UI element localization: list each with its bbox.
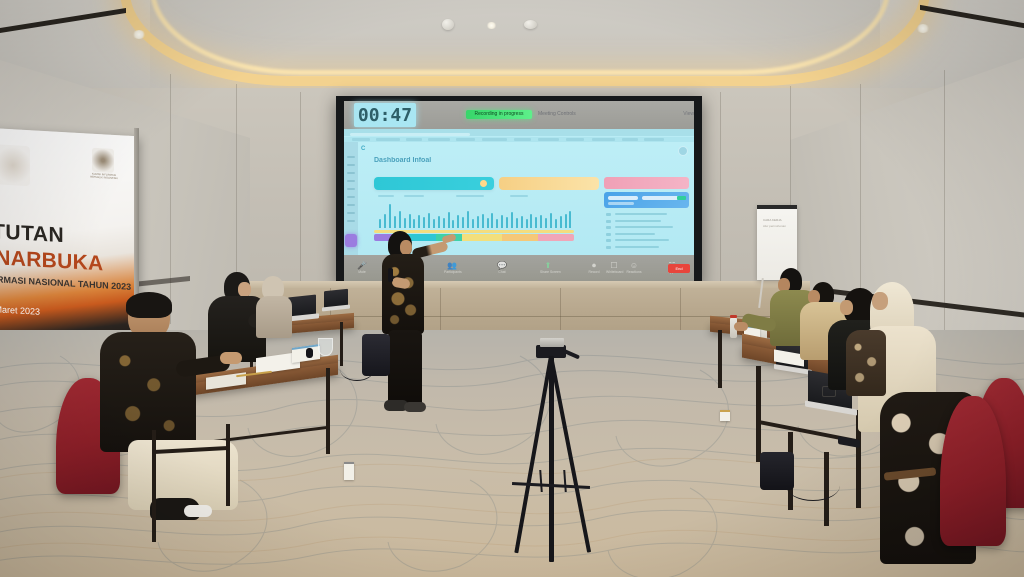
wall-panel-seam [944, 70, 945, 340]
bar-14 [443, 218, 445, 228]
bar-33 [535, 217, 537, 228]
banner-line-4: 28 Maret 2023 [0, 304, 40, 317]
table-microphone [306, 348, 313, 358]
sidebar-item-statistik[interactable] [347, 204, 355, 206]
legend-entry [378, 195, 394, 197]
bar-chart [378, 202, 573, 228]
floor-marker-card [720, 410, 730, 421]
presenter-batik-shirt [382, 254, 424, 334]
list-item[interactable] [606, 232, 690, 237]
chair-right-near [940, 396, 1006, 546]
flipchart-line-2: Alur permohonan [763, 224, 791, 228]
speaker-icon [524, 20, 537, 29]
total-card[interactable] [374, 177, 494, 190]
bar-38 [560, 216, 562, 228]
list-item-icon [606, 233, 611, 236]
bar-13 [438, 216, 440, 228]
bar-2 [384, 214, 386, 228]
legend-entry [456, 195, 484, 197]
bar-15 [448, 212, 450, 228]
bar-11 [428, 213, 430, 228]
sidebar-item-profil[interactable] [347, 164, 355, 166]
chair-leg [226, 424, 230, 506]
view-button[interactable]: View [672, 110, 694, 119]
sidebar-item-beranda[interactable] [347, 156, 355, 158]
list-item[interactable] [606, 219, 690, 224]
stacked-segment-Kuning [462, 234, 502, 241]
sidebar-item-permohonan[interactable] [347, 180, 355, 182]
chair-leg [152, 430, 156, 542]
participant-hand [734, 322, 748, 331]
dashboard-sidebar[interactable] [344, 142, 358, 255]
bookmark-item[interactable] [406, 138, 422, 141]
video-camera [540, 338, 564, 347]
bar-37 [555, 219, 557, 228]
downlight-icon [132, 30, 146, 39]
bookmark-item[interactable] [514, 138, 531, 141]
bar-39 [565, 214, 567, 228]
recording-indicator[interactable]: Recording in progress [466, 110, 532, 119]
app-logo[interactable]: C [361, 146, 383, 151]
handheld-microphone [388, 268, 393, 282]
bar-4 [394, 216, 396, 228]
floor-marker-card [344, 462, 354, 480]
banner-line-3: NFORMASI NASIONAL TAHUN 2023 [0, 273, 131, 292]
bar-7 [409, 214, 411, 228]
bar-32 [530, 214, 532, 228]
bar-28 [511, 212, 513, 228]
event-banner: KOMISI INFORMASI REPUBLIK INDONESIA ATUT… [0, 128, 138, 346]
presenter-face [400, 240, 412, 255]
list-item[interactable] [606, 245, 690, 250]
whiteboard-icon[interactable]: ☐Whiteboard [606, 262, 622, 275]
presenter-trousers [388, 330, 422, 408]
bar-25 [496, 219, 498, 228]
bar-24 [491, 213, 493, 228]
pending-card[interactable] [499, 177, 599, 190]
bookmark-item[interactable] [566, 138, 584, 141]
bookmark-item[interactable] [428, 138, 450, 141]
participant-shoe-sole [184, 505, 212, 517]
list-item-icon [606, 220, 611, 223]
credenza-top [236, 281, 810, 288]
microphone-icon[interactable]: 🎤Mute [354, 262, 370, 275]
flipchart-line-1: CARA KERJA [763, 218, 791, 222]
table-leg [718, 330, 722, 388]
wall-panel-seam [170, 74, 171, 324]
sidebar-item-layanan[interactable] [347, 172, 355, 174]
banner-line-2: TINARBUKA [0, 245, 104, 276]
garuda-emblem-icon: KOMISI INFORMASI REPUBLIK INDONESIA [92, 148, 114, 173]
participant-face [840, 300, 853, 315]
list-item-label [615, 246, 659, 248]
share-screen-icon[interactable]: ⬆Share Screen [540, 262, 556, 275]
list-item-icon [606, 246, 611, 249]
countdown-timer: 00:47 [354, 103, 416, 127]
secondary-filter[interactable] [608, 202, 634, 205]
bar-18 [462, 217, 464, 228]
list-item[interactable] [606, 225, 690, 230]
participant-patterned-sleeve [846, 330, 886, 396]
tripod-leg-center [549, 356, 554, 562]
request-list[interactable] [606, 212, 690, 252]
bar-10 [423, 217, 425, 228]
browser-toolbar [344, 129, 694, 136]
drinking-glass [318, 338, 333, 356]
tripod-spreader [539, 470, 567, 492]
participant-body [256, 296, 292, 338]
list-item-label [615, 233, 655, 235]
bookmark-item[interactable] [622, 138, 638, 141]
conference-room-photo: KOMISI INFORMASI REPUBLIK INDONESIA ATUT… [0, 0, 1024, 577]
bar-29 [516, 218, 518, 228]
sidebar-item-pengaturan[interactable] [347, 220, 355, 222]
bar-31 [526, 219, 528, 228]
card-badge-icon [480, 180, 487, 187]
search-button[interactable] [677, 196, 686, 200]
wall-panel-seam [236, 84, 237, 284]
bar-30 [521, 216, 523, 228]
wall-panel-seam [860, 84, 861, 314]
search-input[interactable] [608, 196, 638, 200]
bar-27 [506, 217, 508, 228]
participant-face [872, 292, 888, 310]
legend-entry [510, 195, 528, 197]
participant-hand [220, 352, 242, 364]
bar-3 [389, 204, 391, 228]
list-item-label [615, 226, 673, 228]
bar-1 [379, 219, 381, 228]
list-item-icon [606, 239, 611, 242]
user-avatar-icon[interactable] [678, 146, 688, 156]
stacked-segment-Oranye [502, 234, 538, 241]
bar-20 [472, 219, 474, 228]
list-item[interactable] [606, 212, 690, 217]
flipchart-clip [757, 205, 797, 209]
bookmark-item[interactable] [352, 138, 370, 141]
bookmark-item[interactable] [376, 138, 400, 141]
bar-9 [418, 215, 420, 228]
downlight-icon [916, 24, 930, 33]
floor-cable [786, 470, 840, 501]
bar-6 [404, 218, 406, 228]
participant-face [238, 282, 251, 297]
meeting-controls-label[interactable]: Meeting Controls [538, 110, 582, 119]
list-item-label [615, 239, 669, 241]
table-leg [326, 368, 330, 454]
bar-19 [467, 211, 469, 228]
floor-cable [340, 358, 374, 381]
banner-watermark-icon [0, 144, 30, 186]
chat-icon[interactable]: 💬Chat [494, 262, 510, 275]
legend-entry [404, 195, 424, 197]
banner-line-1: ATUTAN [0, 219, 64, 248]
bookmark-item[interactable] [456, 138, 475, 141]
participant-batik-shirt [100, 332, 196, 452]
bar-8 [413, 219, 415, 228]
reactions-icon[interactable]: ☺Reactions [626, 262, 642, 275]
list-item-icon [606, 213, 611, 216]
alert-card[interactable] [604, 177, 689, 189]
bar-22 [482, 214, 484, 228]
table-leg [340, 322, 343, 366]
address-bar[interactable] [350, 133, 470, 136]
participants-icon[interactable]: 👥Participants [444, 262, 460, 275]
list-item-label [615, 220, 661, 222]
smoke-detector-icon [442, 19, 454, 30]
sidebar-item-arsip[interactable] [347, 212, 355, 214]
list-item-label [615, 213, 667, 215]
bookmark-item[interactable] [538, 138, 559, 141]
bar-26 [501, 215, 503, 228]
bottle-cap [730, 315, 737, 318]
chart-legend [378, 195, 578, 199]
list-item[interactable] [606, 238, 690, 243]
bar-34 [540, 215, 542, 228]
participant-hair [126, 292, 172, 318]
downlight-icon [486, 22, 497, 29]
table-leg [756, 366, 761, 462]
bar-35 [545, 218, 547, 228]
bar-5 [399, 211, 401, 228]
bar-23 [487, 218, 489, 228]
stacked-segment-Merah Muda [538, 234, 574, 241]
list-item-icon [606, 226, 611, 229]
page-title: Dashboard Infoal [374, 157, 431, 164]
sidebar-item-monitoring[interactable] [347, 188, 355, 190]
banner-emblem-caption: KOMISI INFORMASI REPUBLIK INDONESIA [86, 172, 122, 180]
bar-36 [550, 213, 552, 228]
end-meeting-button[interactable]: End [668, 264, 690, 273]
bar-40 [569, 211, 571, 228]
bookmark-item[interactable] [482, 138, 507, 141]
sidebar-item-laporan[interactable] [347, 196, 355, 198]
bar-16 [452, 220, 454, 228]
filter-input[interactable] [642, 196, 680, 200]
bar-12 [433, 219, 435, 228]
presenter-shoe [404, 402, 426, 412]
search-panel[interactable] [604, 192, 689, 208]
bookmark-item[interactable] [644, 138, 664, 141]
sidebar-item-bantuan-active[interactable] [345, 234, 357, 247]
bar-17 [457, 215, 459, 228]
bar-21 [477, 216, 479, 228]
wall-panel-seam [720, 92, 721, 282]
record-icon[interactable]: ⏺Record [586, 262, 602, 275]
cove-light-inner [150, 0, 890, 75]
wall-panel-seam [300, 92, 301, 282]
bookmark-item[interactable] [592, 138, 615, 141]
